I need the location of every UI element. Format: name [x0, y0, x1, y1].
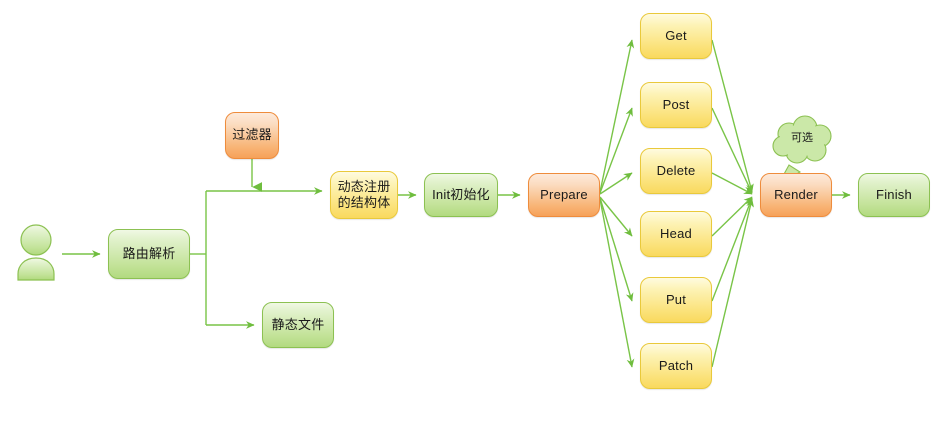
node-render[interactable]: Render: [760, 173, 832, 217]
edge-patch-render: [712, 199, 752, 367]
edge-prepare-put: [600, 198, 632, 301]
flowchart-canvas: 可选 路由解析 过滤器 静态文件 动态注册 的结构体 Init初始化 Prepa…: [0, 0, 951, 448]
optional-cloud-label: 可选: [791, 129, 813, 145]
node-method-get[interactable]: Get: [640, 13, 712, 59]
node-method-head[interactable]: Head: [640, 211, 712, 257]
edge-prepare-get: [600, 40, 632, 192]
node-method-delete[interactable]: Delete: [640, 148, 712, 194]
edge-get-render: [712, 40, 752, 192]
node-finish[interactable]: Finish: [858, 173, 930, 217]
edge-delete-render: [712, 173, 752, 194]
edge-layer: [0, 0, 951, 448]
edge-prepare-post: [600, 108, 632, 193]
node-filter[interactable]: 过滤器: [225, 112, 279, 159]
node-method-patch[interactable]: Patch: [640, 343, 712, 389]
node-method-post[interactable]: Post: [640, 82, 712, 128]
edge-put-render: [712, 198, 752, 301]
node-static-file[interactable]: 静态文件: [262, 302, 334, 348]
node-route-parse[interactable]: 路由解析: [108, 229, 190, 279]
node-prepare[interactable]: Prepare: [528, 173, 600, 217]
edge-head-render: [712, 197, 752, 236]
node-dynamic-register[interactable]: 动态注册 的结构体: [330, 171, 398, 219]
edge-prepare-patch: [600, 199, 632, 367]
node-method-put[interactable]: Put: [640, 277, 712, 323]
user-actor-icon: [18, 225, 54, 280]
edge-prepare-head: [600, 197, 632, 236]
edge-post-render: [712, 108, 752, 193]
node-init[interactable]: Init初始化: [424, 173, 498, 217]
edge-prepare-delete: [600, 173, 632, 194]
